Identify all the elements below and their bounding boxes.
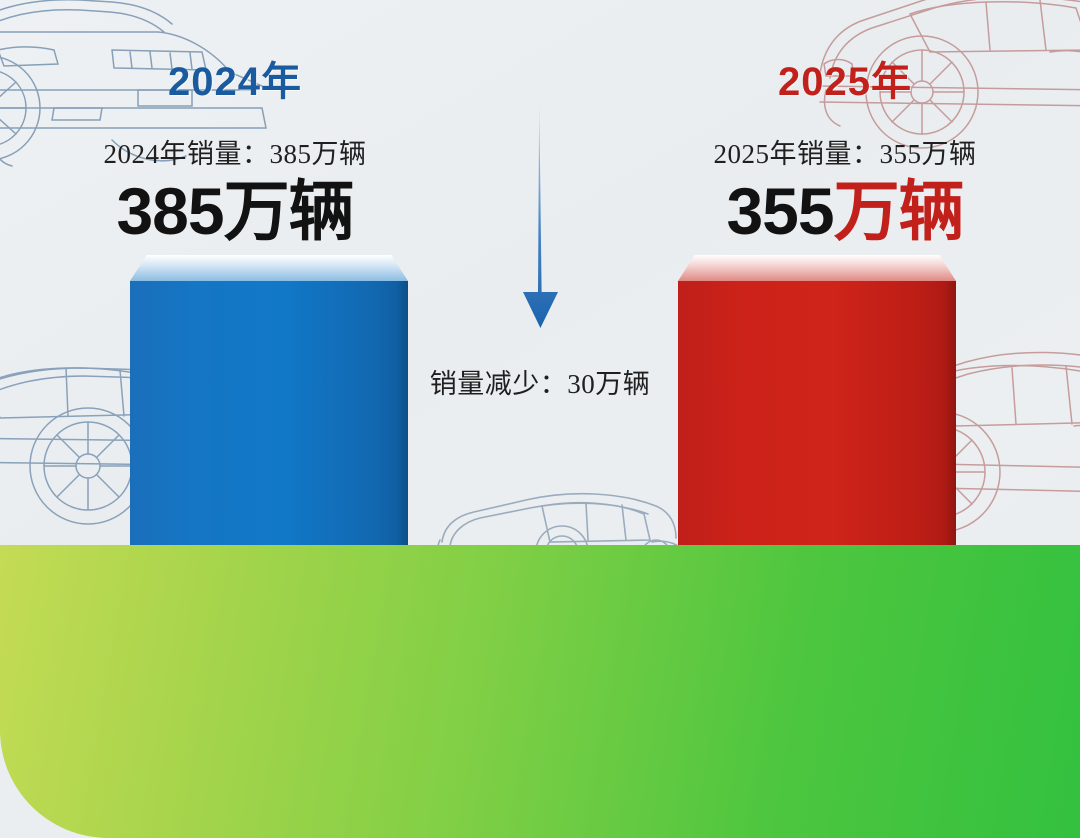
- bar-top-face-2025: [678, 255, 956, 281]
- value-unit-2025: 万辆: [834, 174, 964, 248]
- value-number-2025: 355: [726, 174, 833, 248]
- bar-top-face-2024: [130, 255, 408, 281]
- year-heading-2024: 2024年: [0, 62, 470, 102]
- bar-2025: [678, 255, 956, 548]
- bar-front-face-2024: [130, 281, 408, 571]
- value-unit-2024: 万辆: [224, 174, 354, 248]
- delta-label: 销量减少：30万辆: [380, 362, 700, 401]
- year-heading-2025: 2025年: [610, 62, 1080, 102]
- value-label-2024: 385万辆: [0, 178, 470, 244]
- infographic-canvas: 2024年 2024年销量：385万辆 385万辆 2025年 2025年销量：…: [0, 0, 1080, 838]
- arrow-down-icon: [504, 96, 576, 346]
- bar-front-face-2025: [678, 281, 956, 548]
- bar-2024: [130, 255, 408, 571]
- subtitle-2024: 2024年销量：385万辆: [0, 132, 470, 171]
- bottom-banner: 海外发力，国内失守？ XINNENGYUANGUAN 新能源观: [0, 545, 1080, 838]
- value-number-2024: 385: [116, 174, 223, 248]
- subtitle-2025: 2025年销量：355万辆: [610, 132, 1080, 171]
- value-label-2025: 355万辆: [610, 178, 1080, 244]
